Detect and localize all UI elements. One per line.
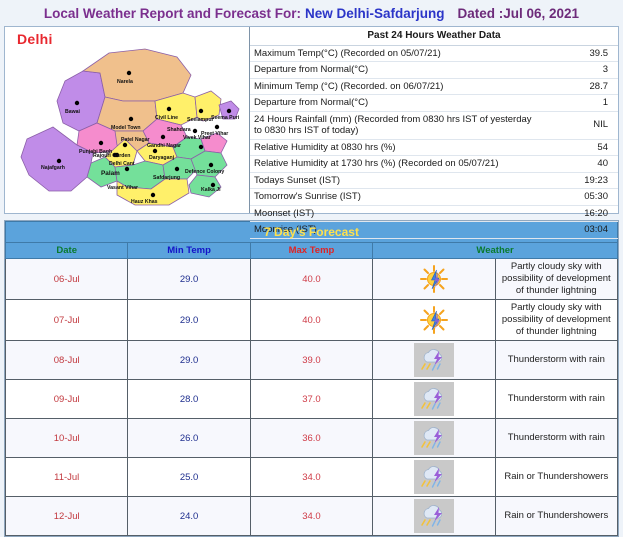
row-label: Relative Humidity at 1730 hrs (%) (Recor… bbox=[250, 156, 546, 173]
svg-text:Rajouri Garden: Rajouri Garden bbox=[93, 153, 130, 159]
forecast-panel: 7 Day's Forecast Date Min Temp Max Temp … bbox=[4, 220, 619, 537]
delhi-map-cell: Delhi bbox=[5, 27, 250, 213]
row-max-temp: 37.0 bbox=[250, 380, 372, 419]
row-max-temp: 34.0 bbox=[250, 497, 372, 536]
svg-text:Patel Nagar: Patel Nagar bbox=[121, 137, 150, 143]
report-date: Dated :Jul 06, 2021 bbox=[458, 6, 580, 21]
table-row: 12-Jul 24.0 34.0 bbox=[6, 497, 618, 536]
table-row: 07-Jul 29.0 40.0 bbox=[6, 300, 618, 341]
row-label: 24 Hours Rainfall (mm) (Recorded from 08… bbox=[250, 111, 546, 139]
svg-text:Safdarjung: Safdarjung bbox=[153, 175, 180, 181]
row-min-temp: 24.0 bbox=[128, 497, 250, 536]
row-value: 19:23 bbox=[546, 172, 618, 189]
svg-text:Civil Line: Civil Line bbox=[155, 115, 178, 121]
sun-thunder-icon bbox=[377, 303, 490, 337]
row-icon-cell bbox=[373, 419, 495, 458]
table-row: 11-Jul 25.0 34.0 bbox=[6, 458, 618, 497]
svg-text:Palam: Palam bbox=[101, 170, 120, 177]
row-weather: Thunderstorm with rain bbox=[495, 380, 617, 419]
row-weather: Rain or Thundershowers bbox=[495, 497, 617, 536]
table-row: Relative Humidity at 0830 hrs (%) 54 bbox=[250, 139, 618, 156]
row-date: 08-Jul bbox=[6, 341, 128, 380]
row-value: 54 bbox=[546, 139, 618, 156]
row-min-temp: 26.0 bbox=[128, 419, 250, 458]
top-panel: Delhi bbox=[4, 26, 619, 214]
row-date: 06-Jul bbox=[6, 259, 128, 300]
col-header-weather[interactable]: Weather bbox=[373, 243, 618, 259]
col-header-date[interactable]: Date bbox=[6, 243, 128, 259]
row-value: 05:30 bbox=[546, 189, 618, 206]
table-row: 10-Jul 26.0 36.0 bbox=[6, 419, 618, 458]
row-icon-cell bbox=[373, 380, 495, 419]
svg-text:Seema Puri: Seema Puri bbox=[211, 115, 240, 121]
sun-thunder-icon bbox=[377, 262, 490, 296]
row-max-temp: 34.0 bbox=[250, 458, 372, 497]
delhi-district-map: Narela Bawai Model Town Civil Line Seela… bbox=[5, 27, 249, 213]
table-row: Departure from Normal(°C) 1 bbox=[250, 95, 618, 112]
row-label: Departure from Normal(°C) bbox=[250, 95, 546, 112]
forecast-table: 7 Day's Forecast Date Min Temp Max Temp … bbox=[5, 221, 618, 536]
row-label: Todays Sunset (IST) bbox=[250, 172, 546, 189]
svg-text:Kalka Ji: Kalka Ji bbox=[201, 187, 221, 193]
row-value: 28.7 bbox=[546, 78, 618, 95]
thunderstorm-rain-icon bbox=[414, 382, 454, 416]
row-value: 03:04 bbox=[546, 222, 618, 239]
row-date: 12-Jul bbox=[6, 497, 128, 536]
row-max-temp: 39.0 bbox=[250, 341, 372, 380]
row-value: NIL bbox=[546, 111, 618, 139]
table-row: 06-Jul 29.0 40.0 bbox=[6, 259, 618, 300]
past-24-hours-data: Past 24 Hours Weather Data Maximum Temp(… bbox=[250, 27, 618, 213]
svg-text:Preet Vihar: Preet Vihar bbox=[201, 131, 228, 137]
svg-text:Shahdara: Shahdara bbox=[167, 127, 191, 133]
row-min-temp: 29.0 bbox=[128, 259, 250, 300]
row-value: 1 bbox=[546, 95, 618, 112]
svg-text:Model Town: Model Town bbox=[111, 125, 141, 131]
thunderstorm-rain-icon bbox=[414, 460, 454, 494]
table-row: Moonset (IST) 16:20 bbox=[250, 205, 618, 222]
row-min-temp: 29.0 bbox=[128, 341, 250, 380]
row-label: Minimum Temp (°C) (Recorded. on 06/07/21… bbox=[250, 78, 546, 95]
row-date: 10-Jul bbox=[6, 419, 128, 458]
row-value: 16:20 bbox=[546, 205, 618, 222]
forecast-header-row: Date Min Temp Max Temp Weather bbox=[6, 243, 618, 259]
row-weather: Thunderstorm with rain bbox=[495, 341, 617, 380]
svg-text:Narela: Narela bbox=[117, 79, 133, 85]
thunderstorm-rain-icon bbox=[414, 343, 454, 377]
row-date: 11-Jul bbox=[6, 458, 128, 497]
row-label: Tomorrow's Sunrise (IST) bbox=[250, 189, 546, 206]
table-row: Minimum Temp (°C) (Recorded. on 06/07/21… bbox=[250, 78, 618, 95]
table-row: 24 Hours Rainfall (mm) (Recorded from 08… bbox=[250, 111, 618, 139]
row-icon-cell bbox=[373, 341, 495, 380]
svg-text:Daryaganj: Daryaganj bbox=[149, 155, 175, 161]
svg-text:Delhi Cant: Delhi Cant bbox=[109, 161, 135, 167]
past-24-hours-table: Past 24 Hours Weather Data Maximum Temp(… bbox=[250, 27, 618, 239]
row-icon-cell bbox=[373, 259, 495, 300]
past-24-heading: Past 24 Hours Weather Data bbox=[250, 27, 618, 45]
table-row: Tomorrow's Sunrise (IST) 05:30 bbox=[250, 189, 618, 206]
row-label: Relative Humidity at 0830 hrs (%) bbox=[250, 139, 546, 156]
row-max-temp: 40.0 bbox=[250, 300, 372, 341]
svg-text:Najafgarh: Najafgarh bbox=[41, 165, 65, 171]
thunderstorm-rain-icon bbox=[414, 421, 454, 455]
svg-text:Seelampur: Seelampur bbox=[187, 117, 214, 123]
svg-text:Bawai: Bawai bbox=[65, 109, 81, 115]
row-date: 07-Jul bbox=[6, 300, 128, 341]
page-title: Local Weather Report and Forecast For: N… bbox=[0, 0, 623, 26]
col-header-max-temp[interactable]: Max Temp bbox=[250, 243, 372, 259]
row-label: Maximum Temp(°C) (Recorded on 05/07/21) bbox=[250, 45, 546, 62]
row-value: 39.5 bbox=[546, 45, 618, 62]
row-min-temp: 25.0 bbox=[128, 458, 250, 497]
table-row: 08-Jul 29.0 39.0 bbox=[6, 341, 618, 380]
table-row: Relative Humidity at 1730 hrs (%) (Recor… bbox=[250, 156, 618, 173]
past-24-heading-row: Past 24 Hours Weather Data bbox=[250, 27, 618, 45]
table-row: Maximum Temp(°C) (Recorded on 05/07/21) … bbox=[250, 45, 618, 62]
row-max-temp: 40.0 bbox=[250, 259, 372, 300]
row-date: 09-Jul bbox=[6, 380, 128, 419]
row-weather: Partly cloudy sky with possibility of de… bbox=[495, 300, 617, 341]
row-min-temp: 28.0 bbox=[128, 380, 250, 419]
row-max-temp: 36.0 bbox=[250, 419, 372, 458]
svg-text:Gandhi Nagar: Gandhi Nagar bbox=[147, 143, 181, 149]
row-icon-cell bbox=[373, 497, 495, 536]
table-row: Todays Sunset (IST) 19:23 bbox=[250, 172, 618, 189]
table-row: Departure from Normal(°C) 3 bbox=[250, 62, 618, 79]
col-header-min-temp[interactable]: Min Temp bbox=[128, 243, 250, 259]
thunderstorm-rain-icon bbox=[414, 499, 454, 533]
table-row: 09-Jul 28.0 37.0 bbox=[6, 380, 618, 419]
row-label: Departure from Normal(°C) bbox=[250, 62, 546, 79]
svg-text:Vasant Vihar: Vasant Vihar bbox=[107, 185, 138, 191]
weather-report-page: Local Weather Report and Forecast For: N… bbox=[0, 0, 623, 486]
row-weather: Thunderstorm with rain bbox=[495, 419, 617, 458]
row-min-temp: 29.0 bbox=[128, 300, 250, 341]
station-name: New Delhi-Safdarjung bbox=[305, 6, 445, 21]
row-value: 3 bbox=[546, 62, 618, 79]
map-title: Delhi bbox=[17, 31, 53, 47]
svg-text:Hauz Khas: Hauz Khas bbox=[131, 199, 158, 205]
row-weather: Rain or Thundershowers bbox=[495, 458, 617, 497]
row-icon-cell bbox=[373, 300, 495, 341]
page-title-main: Local Weather Report and Forecast For: bbox=[44, 6, 301, 21]
row-icon-cell bbox=[373, 458, 495, 497]
svg-text:Defence Colony: Defence Colony bbox=[185, 169, 224, 175]
forecast-body: 06-Jul 29.0 40.0 bbox=[6, 259, 618, 536]
row-value: 40 bbox=[546, 156, 618, 173]
row-label: Moonset (IST) bbox=[250, 205, 546, 222]
row-weather: Partly cloudy sky with possibility of de… bbox=[495, 259, 617, 300]
